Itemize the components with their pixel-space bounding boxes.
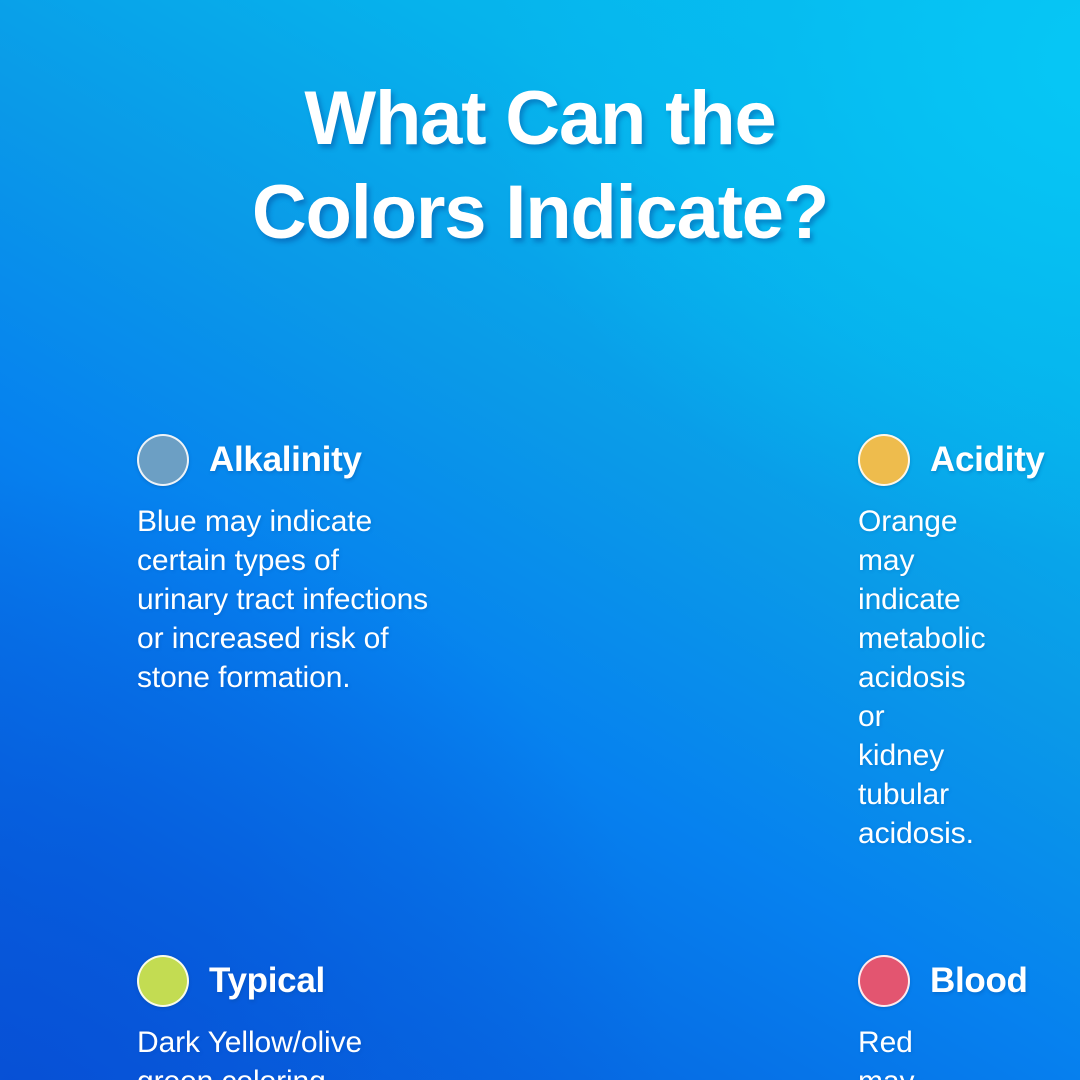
legend-item-label: Acidity — [930, 440, 1045, 480]
legend-row-top: Alkalinity Blue may indicate certain typ… — [0, 432, 1080, 853]
blood-color-dot — [858, 955, 910, 1007]
typical-color-dot — [137, 955, 189, 1007]
acidity-color-dot — [858, 434, 910, 486]
page-title-line-2: Colors Indicate? — [0, 166, 1080, 260]
page-title-line-1: What Can the — [0, 72, 1080, 166]
legend-row-bottom: Typical Dark Yellow/olive green coloring… — [0, 953, 1080, 1080]
page-title: What Can the Colors Indicate? — [0, 72, 1080, 260]
legend-item-label: Blood — [930, 961, 1028, 1001]
legend-item-acidity: Acidity Orange may indicate metabolic ac… — [293, 432, 858, 853]
color-legend-grid: Alkalinity Blue may indicate certain typ… — [0, 432, 1080, 1080]
alkalinity-color-dot — [137, 434, 189, 486]
infographic-canvas: What Can the Colors Indicate? Alkalinity… — [0, 0, 1080, 1080]
legend-item-blood: Blood Red may indicate bladder crystals,… — [293, 953, 858, 1080]
